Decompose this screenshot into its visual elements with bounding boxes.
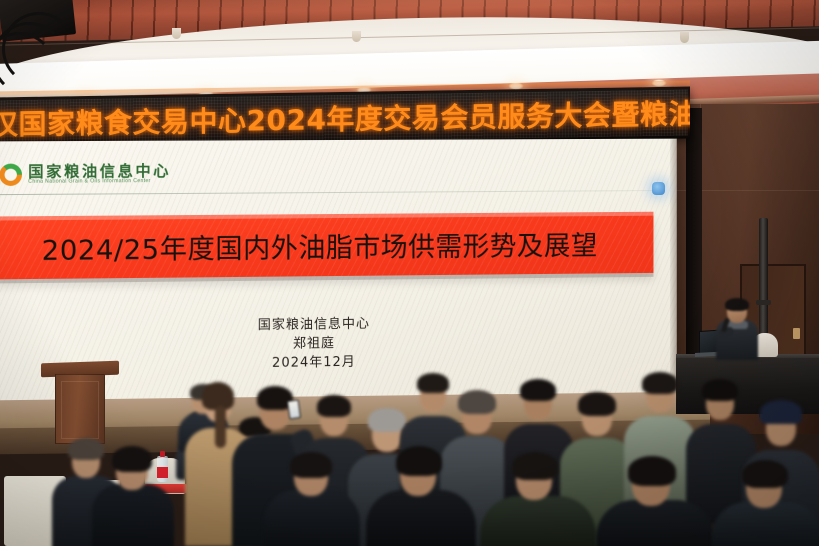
audience-hair xyxy=(317,395,351,417)
audience-hair xyxy=(628,456,676,486)
audience-hair xyxy=(520,379,556,401)
audience-hair xyxy=(112,446,152,472)
slide-title-band: 2024/25年度国内外油脂市场供需形势及展望 xyxy=(0,212,653,280)
presenter-hair xyxy=(725,298,749,311)
audience-area xyxy=(0,370,819,546)
audience-hair xyxy=(396,446,442,476)
audience-hair xyxy=(458,390,496,414)
audience-hair xyxy=(702,379,738,401)
seated-presenter xyxy=(714,300,758,358)
slide-logo: 国家粮油信息中心 China National Grain & Oils Inf… xyxy=(0,163,171,186)
audience-torso xyxy=(366,490,476,546)
projector-glare-spot xyxy=(652,182,665,195)
audience-hair xyxy=(290,452,332,478)
audience-member-hoodie xyxy=(92,448,174,546)
slide-header-rule xyxy=(0,190,655,195)
conference-hall-photo: 汉国家粮食交易中心2024年度交易会员服务大会暨粮油企业座谈会 国家粮油信息中心… xyxy=(0,0,819,546)
audience-hair xyxy=(742,460,788,488)
ponytail xyxy=(215,406,226,448)
speaker-stand-collar xyxy=(756,300,771,305)
title-band-highlight xyxy=(0,212,653,221)
audience-member xyxy=(264,456,360,546)
audience-hair xyxy=(642,372,678,394)
logo-name-en: China National Grain & Oils Information … xyxy=(28,179,171,185)
audience-torso xyxy=(712,502,819,546)
audience-member xyxy=(480,456,596,546)
audience-torso xyxy=(596,500,714,546)
audience-torso xyxy=(480,496,596,546)
audience-member xyxy=(366,452,476,546)
logo-text-group: 国家粮油信息中心 China National Grain & Oils Inf… xyxy=(28,163,171,185)
grain-oils-logo-icon xyxy=(0,164,22,186)
audience-cap xyxy=(760,400,802,424)
audience-hair xyxy=(578,392,616,416)
pendant-light-icon xyxy=(680,32,689,43)
slide-title: 2024/25年度国内外油脂市场供需形势及展望 xyxy=(0,223,653,268)
audience-torso xyxy=(264,490,360,546)
audience-hair xyxy=(512,452,558,480)
pendant-light-icon xyxy=(172,28,181,39)
audience-torso xyxy=(92,484,174,546)
door-handle-icon[interactable] xyxy=(793,328,800,339)
pendant-light-icon xyxy=(352,31,361,42)
audience-member xyxy=(596,462,714,546)
audience-member xyxy=(712,466,819,546)
